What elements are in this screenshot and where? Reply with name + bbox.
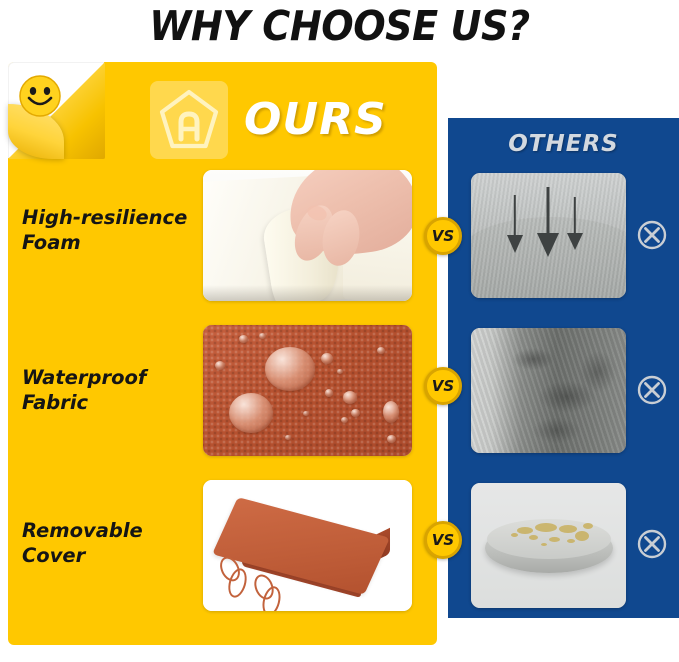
feature-label-removable-cover: Removable Cover — [22, 518, 197, 568]
circle-x-icon-row-2 — [636, 374, 668, 406]
page-title: WHY CHOOSE US? — [24, 0, 655, 52]
smiley-face-icon — [18, 74, 62, 118]
feature-label-line2: Fabric — [22, 391, 88, 414]
circle-x-icon-row-1 — [636, 219, 668, 251]
feature-label-waterproof-fabric: Waterproof Fabric — [22, 365, 197, 415]
down-arrow-icon-left — [507, 195, 523, 253]
feature-label-line1: Waterproof — [22, 366, 146, 389]
ours-photo-high-resilience-foam — [203, 170, 412, 301]
others-photo-stained-cushion — [471, 483, 626, 608]
feature-label-line2: Foam — [22, 231, 81, 254]
vs-badge-row-3: VS — [424, 521, 462, 559]
feature-label-line1: Removable — [22, 519, 143, 542]
others-label: OTHERS — [448, 131, 679, 157]
vs-badge-row-2: VS — [424, 367, 462, 405]
ours-photo-waterproof-fabric — [203, 325, 412, 456]
ours-photo-removable-cover — [203, 480, 412, 611]
feature-label-line1: High-resilience — [22, 206, 187, 229]
vs-badge-row-1: VS — [424, 217, 462, 255]
down-arrow-icon-center — [536, 187, 560, 259]
feature-label-line2: Cover — [22, 544, 85, 567]
others-photo-soaked-fabric — [471, 328, 626, 453]
ours-logo — [150, 81, 228, 159]
down-arrow-icon-right — [567, 197, 583, 251]
circle-x-icon-row-3 — [636, 528, 668, 560]
others-photo-sagging-foam — [471, 173, 626, 298]
ours-label: OURS — [244, 94, 387, 145]
feature-label-high-resilience-foam: High-resilience Foam — [22, 205, 197, 255]
